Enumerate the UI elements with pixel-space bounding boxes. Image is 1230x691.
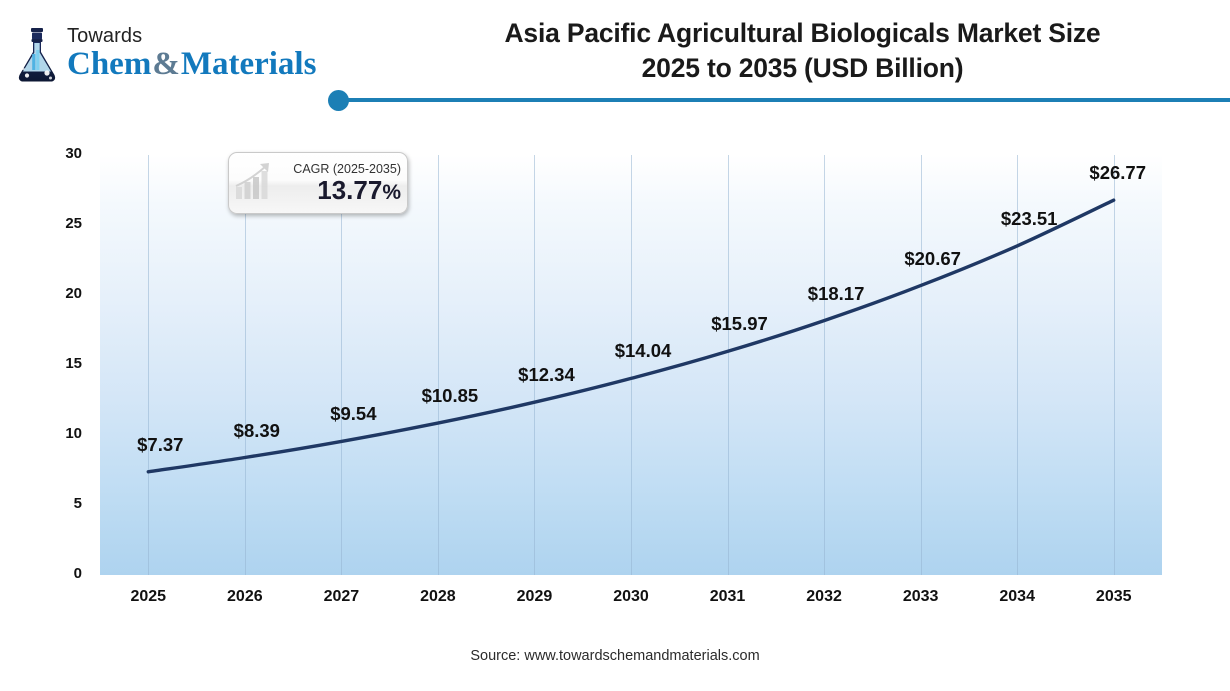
data-label-2033: $20.67 <box>904 248 961 270</box>
gridline-2033 <box>921 155 922 575</box>
x-tick-2030: 2030 <box>586 588 676 606</box>
gridline-2032 <box>824 155 825 575</box>
x-tick-2027: 2027 <box>296 588 386 606</box>
x-tick-2025: 2025 <box>103 588 193 606</box>
data-label-2032: $18.17 <box>808 283 865 305</box>
gridline-2035 <box>1114 155 1115 575</box>
gridline-2031 <box>728 155 729 575</box>
y-tick-10: 10 <box>40 425 82 442</box>
cagr-badge: CAGR (2025-2035) 13.77% <box>228 152 408 214</box>
x-tick-2031: 2031 <box>683 588 773 606</box>
source-text: Source: www.towardschemandmaterials.com <box>0 648 1230 664</box>
data-label-2025: $7.37 <box>137 434 183 456</box>
x-tick-2032: 2032 <box>779 588 869 606</box>
data-label-2027: $9.54 <box>330 403 376 425</box>
infographic-root: Towards Chem&Materials Asia Pacific Agri… <box>0 0 1230 691</box>
cagr-caption: CAGR (2025-2035) <box>277 163 401 176</box>
y-tick-5: 5 <box>40 495 82 512</box>
x-tick-2029: 2029 <box>489 588 579 606</box>
data-label-2035: $26.77 <box>1089 162 1146 184</box>
y-tick-30: 30 <box>40 145 82 162</box>
x-tick-2028: 2028 <box>393 588 483 606</box>
line-chart: 051015202530 202520262027202820292030203… <box>0 0 1230 691</box>
data-label-2031: $15.97 <box>711 313 768 335</box>
gridline-2027 <box>341 155 342 575</box>
gridline-2025 <box>148 155 149 575</box>
y-tick-25: 25 <box>40 215 82 232</box>
cagr-text: CAGR (2025-2035) 13.77% <box>277 163 401 204</box>
data-label-2030: $14.04 <box>615 340 672 362</box>
data-label-2028: $10.85 <box>422 385 479 407</box>
data-label-2029: $12.34 <box>518 364 575 386</box>
gridline-2026 <box>245 155 246 575</box>
y-tick-0: 0 <box>40 565 82 582</box>
data-label-2026: $8.39 <box>234 420 280 442</box>
cagr-unit: % <box>382 181 401 204</box>
x-tick-2034: 2034 <box>972 588 1062 606</box>
x-tick-2035: 2035 <box>1069 588 1159 606</box>
x-tick-2026: 2026 <box>200 588 290 606</box>
cagr-value: 13.77% <box>277 177 401 203</box>
growth-bar-chart-icon <box>233 160 277 207</box>
gridline-2030 <box>631 155 632 575</box>
y-tick-20: 20 <box>40 285 82 302</box>
y-tick-15: 15 <box>40 355 82 372</box>
data-label-2034: $23.51 <box>1001 208 1058 230</box>
x-tick-2033: 2033 <box>876 588 966 606</box>
cagr-number: 13.77 <box>317 175 382 205</box>
gridline-2028 <box>438 155 439 575</box>
